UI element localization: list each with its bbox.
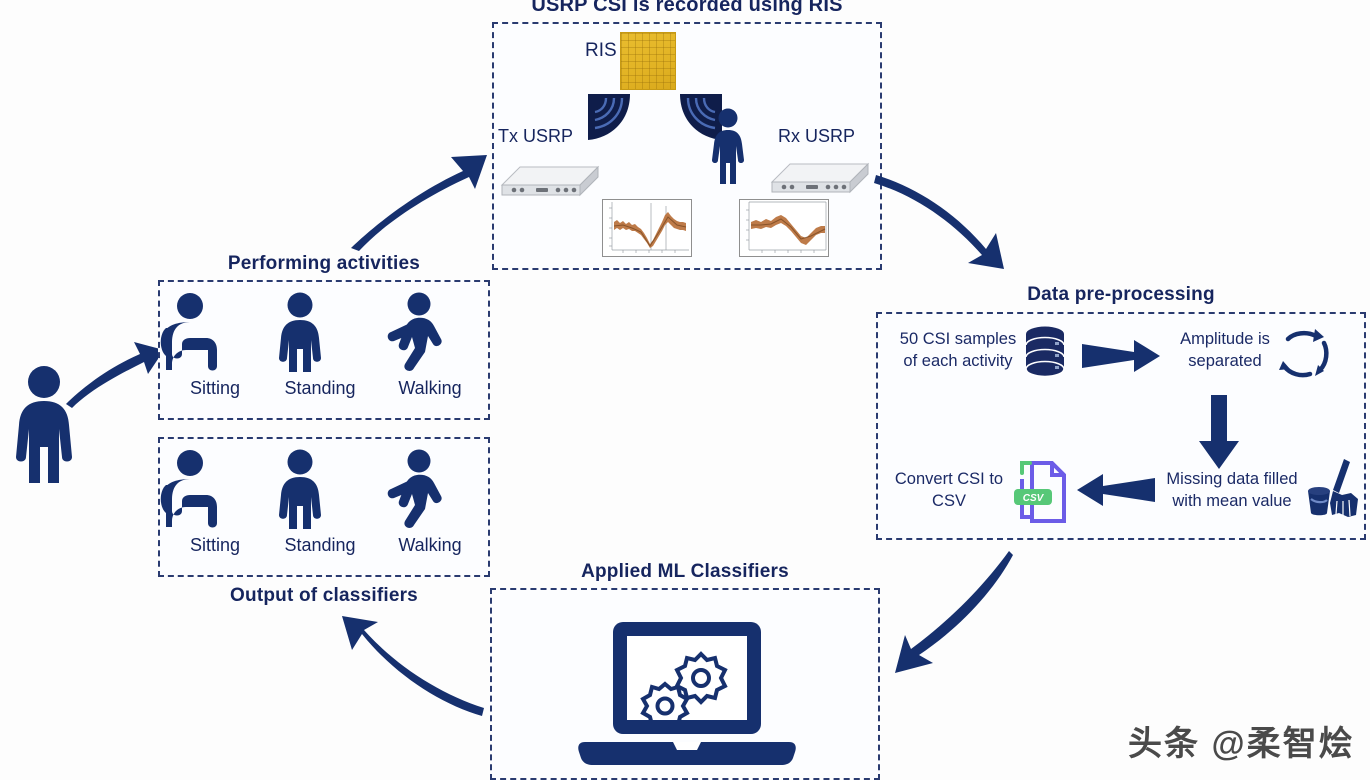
bucket-broom-icon: [1306, 457, 1364, 519]
tx-antenna-signal-icon: [586, 92, 632, 142]
output-of-classifiers-title: Output of classifiers: [158, 585, 490, 607]
preprocessing-step-1-text: 50 CSI samples of each activity: [884, 328, 1032, 373]
activity-label: Sitting: [160, 378, 270, 399]
activity-standing-output: Standing: [265, 449, 375, 556]
tx-usrp-device: [500, 155, 600, 201]
ris-panel-icon: [620, 32, 676, 90]
arrow-step1-to-step2: [1082, 338, 1162, 374]
ris-label: RIS: [585, 40, 617, 62]
activity-label: Standing: [265, 378, 375, 399]
activity-sitting-performing: Sitting: [160, 292, 270, 399]
preprocessing-step-2-text: Amplitude is separated: [1160, 328, 1290, 373]
activity-label: Walking: [375, 535, 485, 556]
person-standing-icon: [706, 108, 750, 186]
arrow-capture-to-preprocessing: [872, 163, 1022, 273]
person-sitting-icon: [160, 449, 230, 531]
rx-usrp-label: Rx USRP: [778, 126, 855, 147]
activity-sitting-output: Sitting: [160, 449, 270, 556]
arrow-classifiers-to-output: [332, 612, 487, 724]
activity-standing-performing: Standing: [265, 292, 375, 399]
person-walking-icon: [375, 292, 445, 374]
preprocessing-step-3-text: Missing data filled with mean value: [1148, 468, 1316, 513]
person-standing-icon: [265, 292, 335, 374]
person-walking-icon: [375, 449, 445, 531]
diagram-canvas: Performing activities Sitting Standing W…: [0, 0, 1370, 780]
subject-in-capture-area: [706, 108, 750, 186]
activity-walking-output: Walking: [375, 449, 485, 556]
csv-badge-label: CSV: [1023, 493, 1045, 504]
data-preprocessing-title: Data pre-processing: [872, 284, 1370, 306]
activity-label: Walking: [375, 378, 485, 399]
arrow-activities-to-capture: [345, 143, 490, 255]
activity-label: Standing: [265, 535, 375, 556]
laptop-gears-icon: [565, 618, 805, 770]
arrow-step2-to-step3: [1197, 395, 1241, 471]
applied-ml-classifiers-title: Applied ML Classifiers: [490, 561, 880, 583]
person-sitting-icon: [160, 292, 230, 374]
cycle-arrows-icon: [1274, 325, 1336, 383]
arrow-subject-to-activities: [60, 330, 170, 410]
csv-file-icon: CSV: [1010, 459, 1068, 525]
rx-usrp-device: [768, 152, 872, 200]
activity-walking-performing: Walking: [375, 292, 485, 399]
capture-title: USRP CSI is recorded using RIS: [492, 0, 882, 17]
arrow-step3-to-step4: [1075, 472, 1155, 508]
arrow-preprocessing-to-classifiers: [885, 545, 1025, 685]
tx-usrp-label: Tx USRP: [498, 126, 573, 147]
preprocessing-step-4-text: Convert CSI to CSV: [890, 468, 1008, 513]
database-icon: [1022, 325, 1068, 379]
person-standing-icon: [265, 449, 335, 531]
watermark: 头条 @柔智烩: [1128, 716, 1355, 765]
csi-amplitude-plot-left: [602, 199, 692, 257]
csi-amplitude-plot-right: [739, 199, 829, 257]
performing-activities-title: Performing activities: [158, 253, 490, 275]
activity-label: Sitting: [160, 535, 270, 556]
